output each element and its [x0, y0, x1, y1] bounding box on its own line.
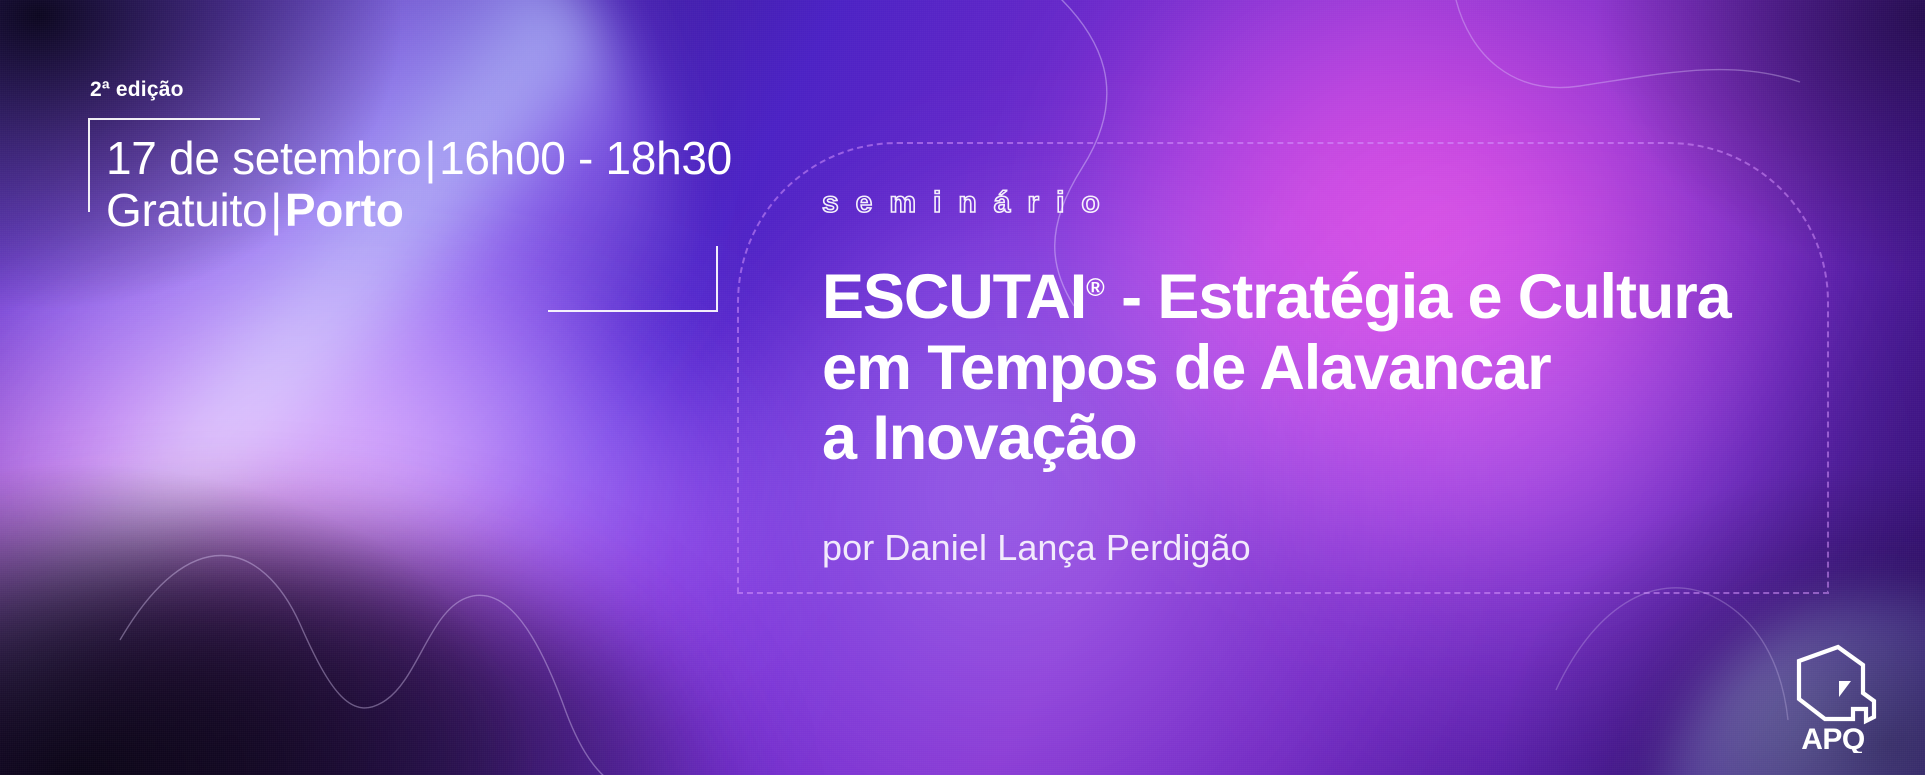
event-time: 16h00 - 18h30 [439, 132, 732, 184]
date-time-separator: | [421, 132, 439, 184]
apq-hexagon-outline [1799, 647, 1874, 721]
apq-arrow-glyph [1839, 681, 1851, 697]
bracket-bottom-right-decoration [548, 246, 718, 312]
event-title-line-1: ESCUTAI® - Estratégia e Cultura [822, 262, 1832, 333]
event-city: Porto [285, 184, 404, 236]
speaker-attribution: por Daniel Lança Perdigão [822, 527, 1251, 569]
event-title-brand: ESCUTAI [822, 262, 1086, 332]
apq-wordmark: APQ [1801, 723, 1865, 753]
event-title-subject: - Estratégia e Cultura [1105, 262, 1731, 332]
date-time-location: 17 de setembro|16h00 - 18h30 Gratuito|Po… [106, 132, 732, 237]
event-title-line-3: a Inovação [822, 403, 1832, 474]
apq-logo: APQ [1781, 635, 1885, 753]
event-title-line-2: em Tempos de Alavancar [822, 333, 1832, 404]
edition-label: 2ª edição [90, 78, 184, 102]
event-banner: 2ª edição 17 de setembro|16h00 - 18h30 G… [0, 0, 1925, 775]
price-city-separator: | [267, 184, 285, 236]
event-title: ESCUTAI® - Estratégia e Cultura em Tempo… [822, 262, 1832, 474]
price-city-row: Gratuito|Porto [106, 184, 732, 236]
event-details-block: 2ª edição [88, 78, 184, 102]
seminar-kicker-label: seminário [822, 186, 1117, 220]
date-time-row: 17 de setembro|16h00 - 18h30 [106, 132, 732, 184]
apq-logo-mark: APQ [1781, 635, 1885, 753]
event-date: 17 de setembro [106, 132, 421, 184]
event-price: Gratuito [106, 184, 267, 236]
trademark-symbol: ® [1086, 274, 1105, 302]
